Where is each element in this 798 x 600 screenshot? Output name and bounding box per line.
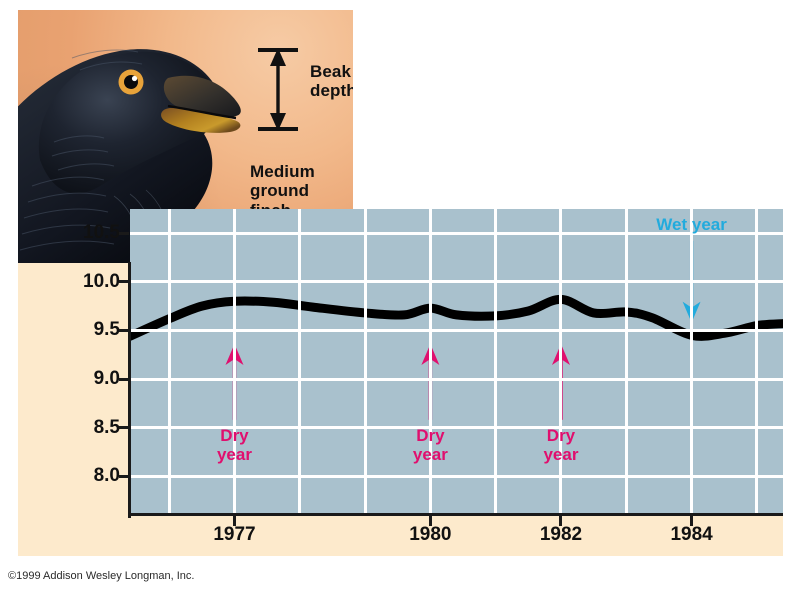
chart-gridline-vertical bbox=[298, 209, 301, 515]
species-label-line-1: Medium bbox=[250, 162, 315, 181]
x-axis-tick bbox=[559, 516, 562, 526]
annotation-label-line: Dry bbox=[543, 426, 578, 445]
x-tick-label: 1977 bbox=[213, 524, 255, 546]
figure-canvas: Beak depth Medium ground finch Beak dept… bbox=[0, 0, 798, 600]
chart-gridline-vertical bbox=[233, 209, 236, 515]
y-axis-tick bbox=[119, 426, 129, 429]
y-tick-label: 10.5 bbox=[83, 222, 120, 244]
beak-depth-label: Beak depth bbox=[310, 62, 353, 100]
wet-year-annotation-label: Wet year bbox=[656, 215, 727, 234]
y-tick-label: 10.0 bbox=[83, 271, 120, 293]
x-tick-label: 1980 bbox=[409, 524, 451, 546]
chart-gridline-vertical bbox=[429, 209, 432, 515]
annotation-arrows bbox=[130, 209, 783, 515]
annotation-label-line: Dry bbox=[217, 426, 252, 445]
chart-gridline-vertical bbox=[364, 209, 367, 515]
chart-gridline-horizontal bbox=[130, 280, 783, 283]
annotation-label-line: year bbox=[413, 445, 448, 464]
dry-year-annotation-label: Dryyear bbox=[543, 426, 578, 464]
chart-gridline-vertical bbox=[690, 209, 693, 515]
x-axis-line bbox=[128, 513, 783, 516]
chart-plot-area bbox=[130, 209, 783, 515]
annotation-label-line: Wet year bbox=[656, 215, 727, 234]
annotation-label-line: year bbox=[543, 445, 578, 464]
chart-gridline-vertical bbox=[494, 209, 497, 515]
x-axis-tick bbox=[429, 516, 432, 526]
y-axis-tick bbox=[119, 378, 129, 381]
beak-depth-label-line-2: depth bbox=[310, 81, 353, 100]
species-label-line-2: ground bbox=[250, 181, 315, 200]
y-axis-line bbox=[128, 262, 131, 518]
y-axis-tick bbox=[119, 232, 129, 235]
y-tick-label: 9.5 bbox=[94, 319, 120, 341]
copyright-notice: ©1999 Addison Wesley Longman, Inc. bbox=[8, 570, 194, 582]
y-axis-tick bbox=[119, 475, 129, 478]
chart-gridline-vertical bbox=[625, 209, 628, 515]
chart-gridline-horizontal bbox=[130, 378, 783, 381]
y-tick-label: 8.5 bbox=[94, 417, 120, 439]
dry-year-annotation-label: Dryyear bbox=[217, 426, 252, 464]
chart-gridline-horizontal bbox=[130, 329, 783, 332]
y-tick-label: 9.0 bbox=[94, 368, 120, 390]
x-tick-label: 1982 bbox=[540, 524, 582, 546]
y-tick-label: 8.0 bbox=[94, 465, 120, 487]
beak-depth-label-line-1: Beak bbox=[310, 62, 353, 81]
chart-gridline-vertical bbox=[559, 209, 562, 515]
chart-gridline-vertical bbox=[755, 209, 758, 515]
chart-gridline-horizontal bbox=[130, 475, 783, 478]
y-axis-tick bbox=[119, 280, 129, 283]
x-axis-tick bbox=[690, 516, 693, 526]
y-axis-tick bbox=[119, 329, 129, 332]
annotation-label-line: Dry bbox=[413, 426, 448, 445]
annotation-label-line: year bbox=[217, 445, 252, 464]
x-tick-label: 1984 bbox=[670, 524, 712, 546]
chart-gridline-vertical bbox=[168, 209, 171, 515]
dry-year-annotation-label: Dryyear bbox=[413, 426, 448, 464]
x-axis-tick bbox=[233, 516, 236, 526]
